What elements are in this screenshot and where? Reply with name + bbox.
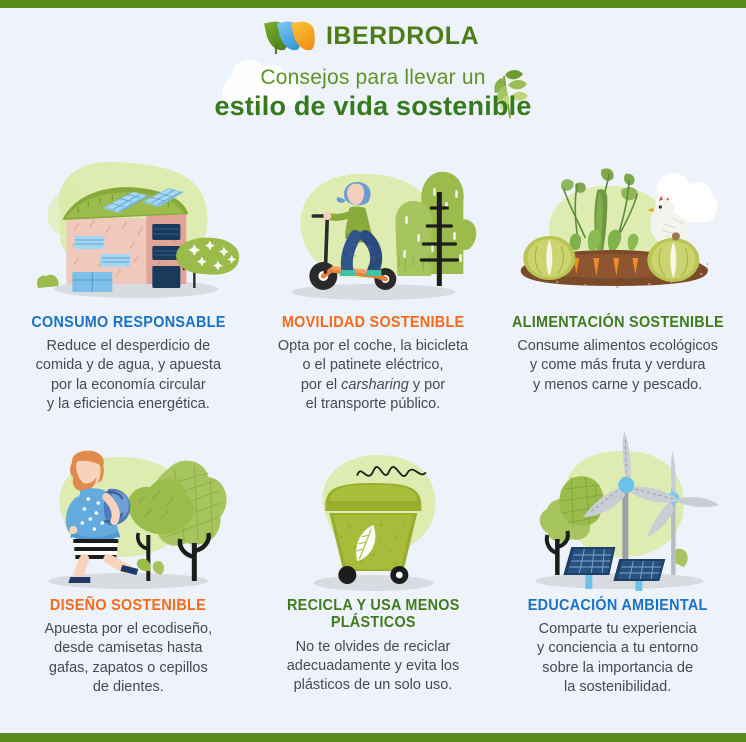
body-line: Apuesta por el ecodiseño, bbox=[44, 621, 212, 637]
body-line: el transporte público. bbox=[306, 396, 441, 412]
tip-card-consumo-responsable[interactable]: CONSUMO RESPONSABLE Reduce el desperdici… bbox=[8, 146, 249, 429]
tip-card-alimentacion-sostenible[interactable]: ALIMENTACIÓN SOSTENIBLE Consume alimento… bbox=[497, 146, 738, 429]
illustration-house-solar-panels bbox=[8, 146, 249, 308]
card-title: CONSUMO RESPONSABLE bbox=[31, 314, 225, 331]
logo-leaf-marks bbox=[267, 19, 317, 53]
body-line: sobre la importancia de bbox=[542, 660, 693, 676]
title-line-1: Consejos para llevar un bbox=[0, 66, 746, 90]
body-line: de dientes. bbox=[93, 679, 164, 695]
body-line: plásticos de un solo uso. bbox=[294, 677, 453, 693]
body-line: Consume alimentos ecológicos bbox=[517, 338, 718, 354]
card-body: Opta por el coche, la bicicleta o el pat… bbox=[278, 337, 468, 414]
body-line: por la economía circular bbox=[51, 377, 206, 393]
body-line: desde camisetas hasta bbox=[54, 640, 202, 656]
body-line: o el patinete eléctrico, bbox=[302, 357, 443, 373]
body-line: Opta por el coche, la bicicleta bbox=[278, 338, 468, 354]
card-title: MOVILIDAD SOSTENIBLE bbox=[282, 314, 465, 331]
bottom-accent-bar bbox=[0, 733, 746, 742]
body-line: y la eficiencia energética. bbox=[47, 396, 210, 412]
tips-grid: CONSUMO RESPONSABLE Reduce el desperdici… bbox=[8, 146, 738, 712]
body-line: Reduce el desperdicio de bbox=[47, 338, 211, 354]
card-body: No te olvides de reciclar adecuadamente … bbox=[287, 638, 460, 695]
body-line: la sostenibilidad. bbox=[564, 679, 671, 695]
body-line: y conciencia a tu entorno bbox=[537, 640, 698, 656]
illustration-green-recycling-bin bbox=[253, 429, 494, 591]
body-line: gafas, zapatos o cepillos bbox=[49, 660, 208, 676]
card-title: EDUCACIÓN AMBIENTAL bbox=[528, 597, 708, 614]
title-line-2: estilo de vida sostenible bbox=[0, 91, 746, 122]
card-title: DISEÑO SOSTENIBLE bbox=[50, 597, 206, 614]
page-title: Consejos para llevar un estilo de vida s… bbox=[0, 66, 746, 122]
body-line: por el carsharing y por bbox=[301, 377, 445, 393]
illustration-person-on-scooter bbox=[253, 146, 494, 308]
body-line: comida y de agua, y apuesta bbox=[36, 357, 221, 373]
body-line: y menos carne y pescado. bbox=[533, 377, 702, 393]
illustration-wind-turbines-solar-panels bbox=[497, 429, 738, 591]
tip-card-diseno-sostenible[interactable]: DISEÑO SOSTENIBLE Apuesta por el ecodise… bbox=[8, 429, 249, 712]
body-line: adecuadamente y evita los bbox=[287, 658, 460, 674]
tip-card-recicla-plasticos[interactable]: RECICLA Y USA MENOS PLÁSTICOS No te olvi… bbox=[253, 429, 494, 712]
tip-card-educacion-ambiental[interactable]: EDUCACIÓN AMBIENTAL Comparte tu experien… bbox=[497, 429, 738, 712]
card-body: Comparte tu experiencia y conciencia a t… bbox=[537, 620, 698, 697]
tip-card-movilidad-sostenible[interactable]: MOVILIDAD SOSTENIBLE Opta por el coche, … bbox=[253, 146, 494, 429]
card-title: ALIMENTACIÓN SOSTENIBLE bbox=[512, 314, 724, 331]
iberdrola-logo: IBERDROLA bbox=[267, 19, 479, 53]
card-body: Reduce el desperdicio de comida y de agu… bbox=[36, 337, 221, 414]
top-accent-bar bbox=[0, 0, 746, 8]
body-line: Comparte tu experiencia bbox=[539, 621, 697, 637]
italic-term: carsharing bbox=[341, 377, 409, 393]
card-body: Consume alimentos ecológicos y come más … bbox=[517, 337, 718, 394]
card-body: Apuesta por el ecodiseño, desde camiseta… bbox=[44, 620, 212, 697]
illustration-vegetable-garden-with-hen bbox=[497, 146, 738, 308]
logo-wordmark: IBERDROLA bbox=[326, 22, 479, 51]
body-line: No te olvides de reciclar bbox=[296, 639, 451, 655]
body-line: y come más fruta y verdura bbox=[530, 357, 706, 373]
card-title: RECICLA Y USA MENOS PLÁSTICOS bbox=[261, 597, 485, 632]
header: IBERDROLA Consejos para llevar un estilo… bbox=[0, 8, 746, 140]
leaf-stem-icon bbox=[275, 45, 277, 54]
illustration-man-walking-with-backpack bbox=[8, 429, 249, 591]
